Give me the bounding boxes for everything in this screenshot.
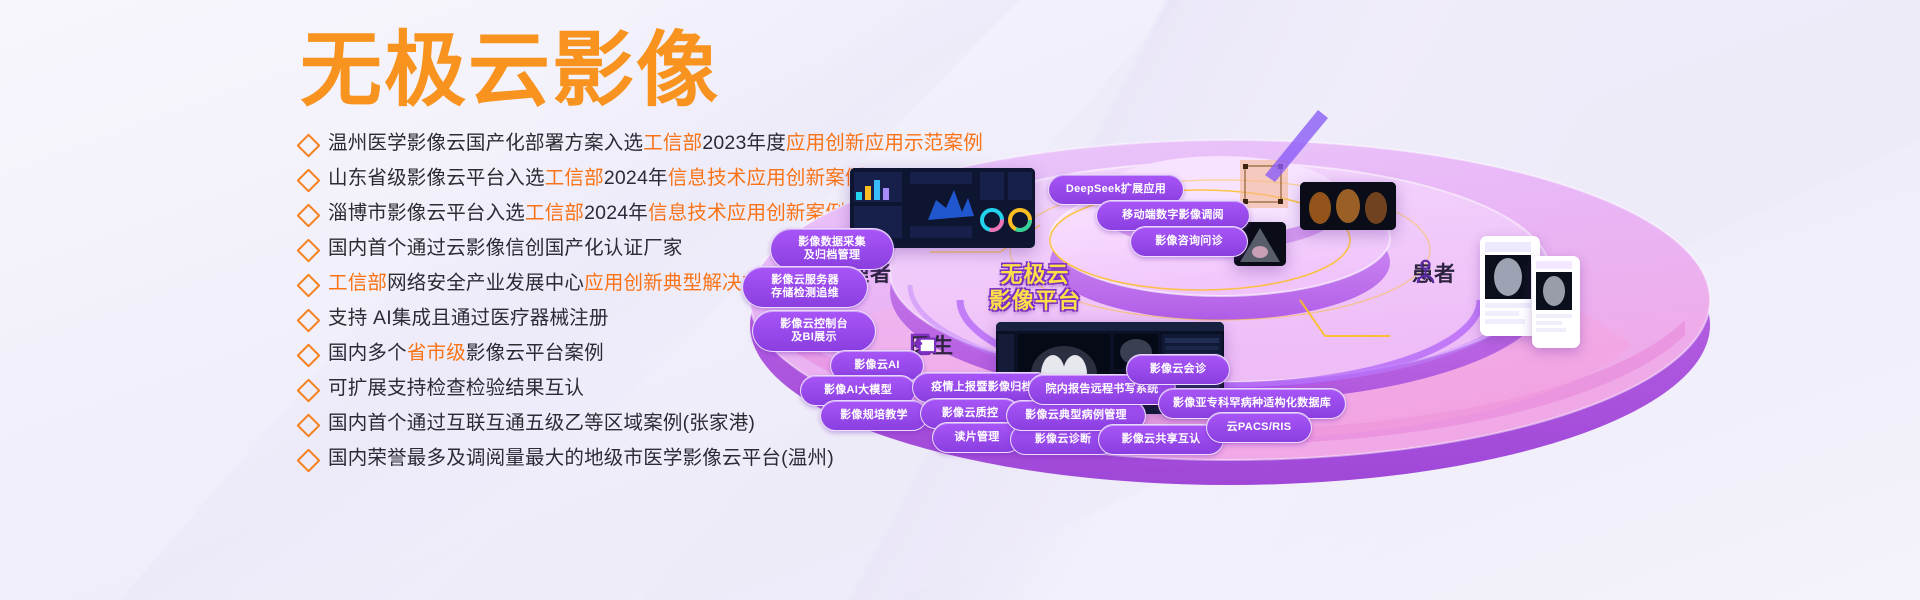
platform-center-label-line2: 影像平台 [960, 288, 1110, 314]
role-patient: 患者 [1412, 258, 1456, 288]
diamond-bullet-icon [296, 238, 320, 262]
bullet-segment: 温州医学影像云国产化部署方案入选 [328, 132, 643, 154]
bullet-segment: 2024年 [604, 167, 668, 189]
pill-cloud-pacs-ris[interactable]: 云PACS/RIS [1206, 412, 1312, 443]
bullet-segment: 国内首个通过云影像信创国产化认证厂家 [328, 237, 683, 259]
banner-root: 无极云影像 温州医学影像云国产化部署方案入选工信部2023年度应用创新应用示范案… [0, 0, 1920, 600]
bullet-segment: 省市级 [407, 342, 466, 364]
pill-image-cloud-console[interactable]: 影像云控制台 及BI展示 [752, 310, 876, 352]
diamond-bullet-icon [296, 273, 320, 297]
platform-center-label: 无极云 影像平台 [960, 262, 1110, 314]
feature-bullet-text: 国内多个省市级影像云平台案例 [328, 336, 604, 371]
diamond-bullet-icon [296, 413, 320, 437]
platform-center-label-line1: 无极云 [960, 262, 1110, 288]
bullet-segment: 国内多个 [328, 342, 407, 364]
diamond-bullet-icon [296, 343, 320, 367]
diamond-bullet-icon [296, 203, 320, 227]
page-title-text: 无极云影像 [300, 25, 720, 114]
bullet-segment: 网络安全产业发展中心 [387, 272, 584, 294]
platform-disc-graphic [700, 0, 1920, 600]
bullet-segment: 淄博市影像云平台入选 [328, 202, 525, 224]
bullet-segment: 国内首个通过互联互通五级乙等区域案例(张家港) [328, 412, 755, 434]
bullet-segment: 支持 AI集成且通过医疗器械注册 [328, 307, 609, 329]
diamond-bullet-icon [296, 378, 320, 402]
pill-image-cloud-consult[interactable]: 影像云会诊 [1126, 354, 1230, 385]
diamond-bullet-icon [296, 448, 320, 472]
patient-tablet-image [1480, 236, 1540, 336]
bullet-segment: 工信部 [545, 167, 604, 189]
bullet-segment: 山东省级影像云平台入选 [328, 167, 545, 189]
bullet-segment: 可扩展支持检查检验结果互认 [328, 377, 584, 399]
patient-person-icon [1412, 258, 1439, 285]
pill-image-cloud-server[interactable]: 影像云服务器 存储检测追维 [742, 266, 868, 308]
patient-phone-image [1532, 256, 1580, 348]
bullet-segment: 2024年 [584, 202, 648, 224]
bullet-segment: 工信部 [328, 272, 387, 294]
bullet-segment: 工信部 [525, 202, 584, 224]
pill-reading-management[interactable]: 读片管理 [932, 422, 1022, 453]
diamond-bullet-icon [296, 168, 320, 192]
feature-bullet-text: 可扩展支持检查检验结果互认 [328, 371, 584, 406]
pill-image-consultation[interactable]: 影像咨询问诊 [1130, 226, 1248, 257]
diamond-bullet-icon [296, 308, 320, 332]
bullet-segment: 工信部 [643, 132, 702, 154]
feature-bullet-text: 国内首个通过互联互通五级乙等区域案例(张家港) [328, 406, 755, 441]
pill-image-training-teaching[interactable]: 影像规培教学 [820, 400, 928, 431]
feature-bullet-text: 支持 AI集成且通过医疗器械注册 [328, 301, 609, 336]
bullet-segment: 影像云平台案例 [466, 342, 604, 364]
xray-strip-image [1300, 182, 1396, 230]
feature-bullet-text: 国内首个通过云影像信创国产化认证厂家 [328, 231, 683, 266]
diamond-bullet-icon [296, 133, 320, 157]
pill-image-data-collection[interactable]: 影像数据采集 及归档管理 [770, 228, 894, 270]
platform-illustration: 无极云 影像平台 管理者 医生 [700, 0, 1920, 600]
